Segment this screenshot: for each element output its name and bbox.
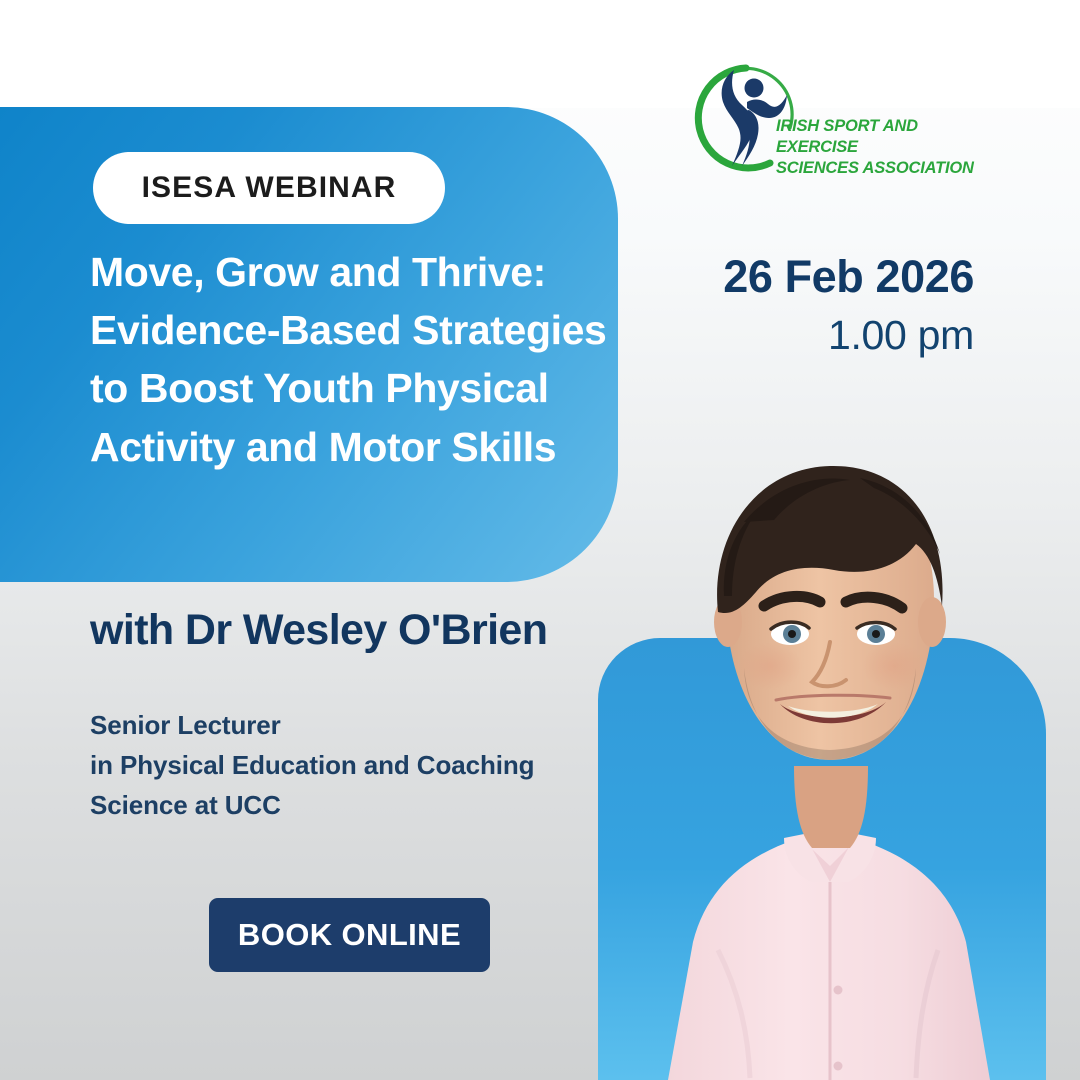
book-online-label: BOOK ONLINE (238, 917, 461, 953)
speaker-role: Senior Lecturer in Physical Education an… (90, 706, 590, 825)
speaker-photo (598, 430, 1048, 1080)
event-datetime: 26 Feb 2026 1.00 pm (594, 252, 974, 358)
isesa-logo: IRISH SPORT AND EXERCISE SCIENCES ASSOCI… (694, 62, 1004, 178)
isesa-logo-text: IRISH SPORT AND EXERCISE SCIENCES ASSOCI… (776, 116, 1002, 178)
speaker-role-line-3: Science at UCC (90, 786, 590, 826)
webinar-badge-label: ISESA WEBINAR (142, 171, 397, 205)
webinar-badge: ISESA WEBINAR (93, 152, 445, 224)
logo-text-line-2: SCIENCES ASSOCIATION (776, 158, 1002, 179)
event-date: 26 Feb 2026 (594, 252, 974, 302)
speaker-role-line-2: in Physical Education and Coaching (90, 746, 590, 786)
logo-text-line-1: IRISH SPORT AND EXERCISE (776, 116, 1002, 158)
speaker-name: with Dr Wesley O'Brien (90, 606, 620, 655)
webinar-promo-poster: IRISH SPORT AND EXERCISE SCIENCES ASSOCI… (0, 0, 1080, 1080)
speaker-role-line-1: Senior Lecturer (90, 706, 590, 746)
book-online-button[interactable]: BOOK ONLINE (209, 898, 490, 972)
page-title: Move, Grow and Thrive: Evidence-Based St… (90, 243, 610, 476)
event-time: 1.00 pm (594, 313, 974, 358)
